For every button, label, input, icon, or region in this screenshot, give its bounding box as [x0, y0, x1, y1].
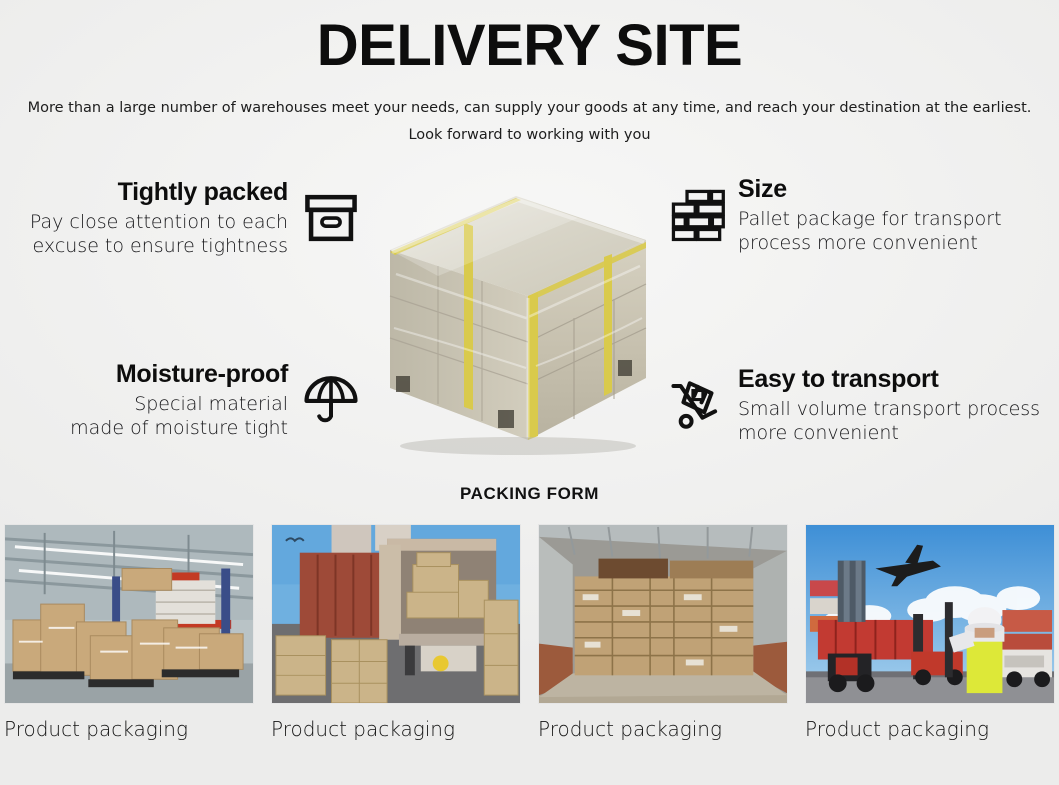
feature-text: Easy to transport Small volume transport… — [726, 365, 1040, 445]
umbrella-icon — [302, 371, 360, 429]
feature-moisture-proof: Moisture-proof Special material made of … — [0, 360, 360, 440]
gallery-item[interactable]: Product packaging — [271, 524, 521, 741]
gallery-caption: Product packaging — [271, 717, 521, 741]
feature-body: Special material made of moisture tight — [70, 393, 288, 441]
archive-box-icon — [302, 189, 360, 247]
feature-body: Pallet package for transport process mor… — [738, 208, 1002, 256]
packing-gallery: Product packaging — [0, 524, 1059, 741]
feature-body: Pay close attention to each excuse to en… — [30, 211, 288, 259]
gallery-caption: Product packaging — [4, 717, 254, 741]
shrink-wrapped-pallet-photo — [378, 178, 658, 458]
subtitle-line-2: Look forward to working with you — [0, 122, 1059, 149]
feature-easy-to-transport: Easy to transport Small volume transport… — [668, 365, 1059, 445]
page-subtitle: More than a large number of warehouses m… — [0, 95, 1059, 149]
page-title: DELIVERY SITE — [0, 16, 1059, 77]
warehouse-interior-photo[interactable] — [4, 524, 254, 704]
feature-heading: Easy to transport — [738, 365, 1040, 394]
gallery-caption: Product packaging — [538, 717, 788, 741]
gallery-caption: Product packaging — [805, 717, 1055, 741]
packing-form-label: PACKING FORM — [0, 484, 1059, 504]
feature-text: Tightly packed Pay close attention to ea… — [30, 178, 302, 258]
port-logistics-photo[interactable] — [805, 524, 1055, 704]
feature-size: Size Pallet package for transport proces… — [668, 175, 1059, 255]
feature-tightly-packed: Tightly packed Pay close attention to ea… — [0, 178, 360, 258]
brick-wall-icon — [668, 186, 726, 244]
feature-heading: Size — [738, 175, 1002, 204]
feature-text: Moisture-proof Special material made of … — [70, 360, 302, 440]
container-loading-photo[interactable] — [271, 524, 521, 704]
container-interior-photo[interactable] — [538, 524, 788, 704]
feature-heading: Tightly packed — [30, 178, 288, 207]
subtitle-line-1: More than a large number of warehouses m… — [28, 100, 1032, 116]
feature-body: Small volume transport process more conv… — [738, 398, 1040, 446]
feature-text: Size Pallet package for transport proces… — [726, 175, 1002, 255]
header: DELIVERY SITE More than a large number o… — [0, 0, 1059, 149]
feature-heading: Moisture-proof — [70, 360, 288, 389]
gallery-item[interactable]: Product packaging — [538, 524, 788, 741]
hand-truck-icon — [668, 376, 726, 434]
gallery-item[interactable]: Product packaging — [4, 524, 254, 741]
gallery-item[interactable]: Product packaging — [805, 524, 1055, 741]
delivery-site-banner: DELIVERY SITE More than a large number o… — [0, 0, 1059, 785]
